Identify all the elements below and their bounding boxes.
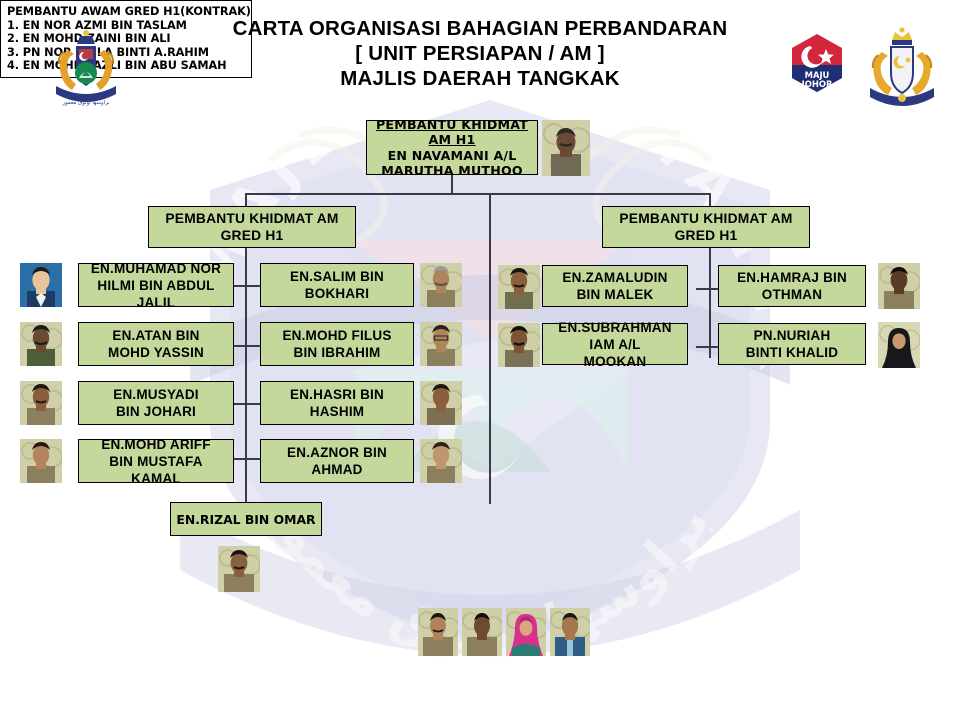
staff-name-line: OTHMAN [722, 286, 862, 303]
title-line-2: [ UNIT PERSIAPAN / AM ] [170, 41, 790, 66]
title-line-1: CARTA ORGANISASI BAHAGIAN PERBANDARAN [170, 16, 790, 41]
node-staff-left-outer-2[interactable]: EN.ATAN BIN MOHD YASSIN [78, 322, 234, 366]
node-level2-right-line-2: GRED H1 [606, 227, 806, 244]
node-staff-right-inner-1[interactable]: EN.ZAMALUDIN BIN MALEK [542, 265, 688, 307]
connector-bus-right-drop [709, 193, 711, 207]
photo-left-inner-2 [420, 322, 462, 366]
node-staff-right-inner-2[interactable]: EN.SUBRAHMAN IAM A/L MOOKAN [542, 323, 688, 365]
connector-right-branch-left-1 [696, 288, 710, 290]
johor-state-crest-left-icon: براوسها اوتوق معمور [46, 26, 126, 110]
staff-name-line: AHMAD [264, 461, 410, 478]
node-staff-left-outer-3[interactable]: EN.MUSYADI BIN JOHARI [78, 381, 234, 425]
connector-inner-branch-3 [245, 403, 261, 405]
connector-inner-branch-4 [245, 458, 261, 460]
staff-name-line: JALIL [82, 294, 230, 311]
org-chart-canvas: MAJLIS TANGKAK براوسها اوتوق معمور [0, 0, 960, 720]
node-root-title: PEMBANTU KHIDMAT AM H1 [370, 117, 534, 148]
connector-inner-branch-2 [245, 345, 261, 347]
staff-name-line: BIN MUSTAFA [82, 453, 230, 470]
staff-name-line: EN.MUHAMAD NOR [82, 260, 230, 277]
node-staff-rizal[interactable]: EN.RIZAL BIN OMAR [170, 502, 322, 536]
node-level2-left[interactable]: PEMBANTU KHIDMAT AM GRED H1 [148, 206, 356, 248]
node-staff-left-outer-4[interactable]: EN.MOHD ARIFF BIN MUSTAFA KAMAL [78, 439, 234, 483]
staff-name-line: EN.MOHD ARIFF [82, 436, 230, 453]
staff-name-line: EN.SALIM BIN [264, 268, 410, 285]
node-staff-left-inner-4[interactable]: EN.AZNOR BIN AHMAD [260, 439, 414, 483]
staff-name-line: EN.HAMRAJ BIN [722, 269, 862, 286]
photo-left-inner-4 [420, 439, 462, 483]
staff-name-line: EN.SUBRAHMAN [546, 319, 684, 336]
page-title: CARTA ORGANISASI BAHAGIAN PERBANDARAN [ … [170, 16, 790, 91]
johor-royal-coat-of-arms-icon [862, 26, 942, 110]
photo-contract-3 [506, 608, 546, 656]
connector-main-bus [245, 193, 711, 195]
staff-name-line: EN.ZAMALUDIN [546, 269, 684, 286]
staff-name-line: BOKHARI [264, 285, 410, 302]
connector-inner-branch-1 [245, 285, 261, 287]
node-level2-left-line-2: GRED H1 [152, 227, 352, 244]
staff-name-line: EN.RIZAL BIN OMAR [174, 511, 318, 528]
staff-name-line: PN.NURIAH [722, 327, 862, 344]
node-staff-right-outer-2[interactable]: PN.NURIAH BINTI KHALID [718, 323, 866, 365]
photo-left-inner-3 [420, 381, 462, 425]
connector-center-stem [489, 193, 491, 504]
photo-root [542, 120, 590, 176]
photo-right-outer-2 [878, 322, 920, 368]
photo-rizal [218, 546, 260, 592]
staff-name-line: HILMI BIN ABDUL [82, 277, 230, 294]
photo-left-outer-2 [20, 322, 62, 366]
staff-name-line: IAM A/L [546, 336, 684, 353]
node-level2-right[interactable]: PEMBANTU KHIDMAT AM GRED H1 [602, 206, 810, 248]
photo-right-inner-2 [498, 323, 540, 367]
node-root-name-1: EN NAVAMANI A/L [370, 148, 534, 164]
staff-name-line: EN.AZNOR BIN [264, 444, 410, 461]
photo-right-inner-1 [498, 265, 540, 309]
photo-left-inner-1 [420, 263, 462, 307]
photo-right-outer-1 [878, 263, 920, 309]
staff-name-line: MOOKAN [546, 353, 684, 370]
staff-name-line: HASHIM [264, 403, 410, 420]
staff-name-line: KAMAL [82, 470, 230, 487]
photo-contract-4 [550, 608, 590, 656]
maju-johor-logo-icon: MAJU JOHOR [786, 32, 848, 94]
staff-name-line: BINTI KHALID [722, 344, 862, 361]
node-staff-left-inner-3[interactable]: EN.HASRI BIN HASHIM [260, 381, 414, 425]
photo-left-outer-1 [20, 263, 62, 307]
staff-name-line: EN.MUSYADI [82, 386, 230, 403]
node-root-name-2: MARUTHA MUTHOO [370, 163, 534, 179]
connector-right-trunk [709, 248, 711, 358]
node-staff-right-outer-1[interactable]: EN.HAMRAJ BIN OTHMAN [718, 265, 866, 307]
svg-text:JOHOR: JOHOR [801, 79, 833, 89]
staff-name-line: BIN MALEK [546, 286, 684, 303]
title-line-3: MAJLIS DAERAH TANGKAK [170, 66, 790, 91]
node-root[interactable]: PEMBANTU KHIDMAT AM H1 EN NAVAMANI A/L M… [366, 120, 538, 175]
staff-name-line: BIN JOHARI [82, 403, 230, 420]
node-level2-right-line-1: PEMBANTU KHIDMAT AM [606, 210, 806, 227]
photo-contract-2 [462, 608, 502, 656]
staff-name-line: BIN IBRAHIM [264, 344, 410, 361]
connector-bus-left-drop [245, 193, 247, 207]
photo-left-outer-3 [20, 381, 62, 425]
staff-name-line: EN.ATAN BIN [82, 327, 230, 344]
photo-contract-1 [418, 608, 458, 656]
node-staff-left-outer-1[interactable]: EN.MUHAMAD NOR HILMI BIN ABDUL JALIL [78, 263, 234, 307]
node-staff-left-inner-2[interactable]: EN.MOHD FILUS BIN IBRAHIM [260, 322, 414, 366]
node-level2-left-line-1: PEMBANTU KHIDMAT AM [152, 210, 352, 227]
node-staff-left-inner-1[interactable]: EN.SALIM BIN BOKHARI [260, 263, 414, 307]
svg-text:براوسها اوتوق معمور: براوسها اوتوق معمور [61, 100, 110, 106]
staff-name-line: EN.HASRI BIN [264, 386, 410, 403]
photo-left-outer-4 [20, 439, 62, 483]
staff-name-line: MOHD YASSIN [82, 344, 230, 361]
staff-name-line: EN.MOHD FILUS [264, 327, 410, 344]
connector-right-branch-left-2 [696, 346, 710, 348]
